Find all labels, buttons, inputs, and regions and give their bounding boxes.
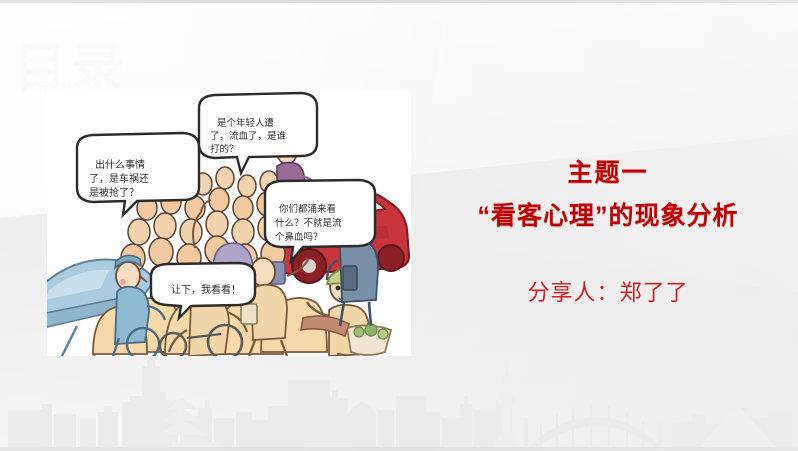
cartoon-illustration: 出什么事情 了，是车祸还 是被抢了？ 是个年轻人遭 了，流血了，是谁 打的？ 让… bbox=[47, 90, 411, 356]
bubble-top-line3: 打的？ bbox=[210, 143, 239, 155]
city-skyline-silhouette bbox=[0, 352, 798, 447]
top-divider bbox=[0, 0, 798, 3]
presenter-label: 分享人：郑了了 bbox=[438, 275, 778, 307]
bubble-top-line2: 了，流血了，是谁 bbox=[210, 130, 287, 142]
bubble-right-line3: 个鼻血吗？ bbox=[275, 231, 323, 243]
page-title: 主题一 bbox=[438, 158, 778, 189]
bubble-left-line2: 了，是车祸还 bbox=[89, 172, 149, 185]
bubble-left-line3: 是被抢了？ bbox=[89, 186, 139, 199]
title-text-block: 主题一 “看客心理”的现象分析 分享人：郑了了 bbox=[438, 158, 778, 307]
page-subtitle: “看客心理”的现象分析 bbox=[438, 200, 778, 233]
bubble-left-line1: 出什么事情 bbox=[95, 158, 145, 171]
bubble-right-line2: 什么？不就是流 bbox=[275, 217, 342, 229]
bottom-divider bbox=[0, 447, 798, 451]
bubble-right-line1: 你们都涌来看 bbox=[279, 203, 336, 215]
bubble-bottom-line1: 让下，我看看！ bbox=[171, 283, 241, 296]
cartoon-svg: 出什么事情 了，是车祸还 是被抢了？ 是个年轻人遭 了，流血了，是谁 打的？ 让… bbox=[47, 90, 411, 356]
presentation-slide: 目录 Copyright bbox=[0, 0, 798, 451]
bubble-top-line1: 是个年轻人遭 bbox=[217, 117, 275, 129]
